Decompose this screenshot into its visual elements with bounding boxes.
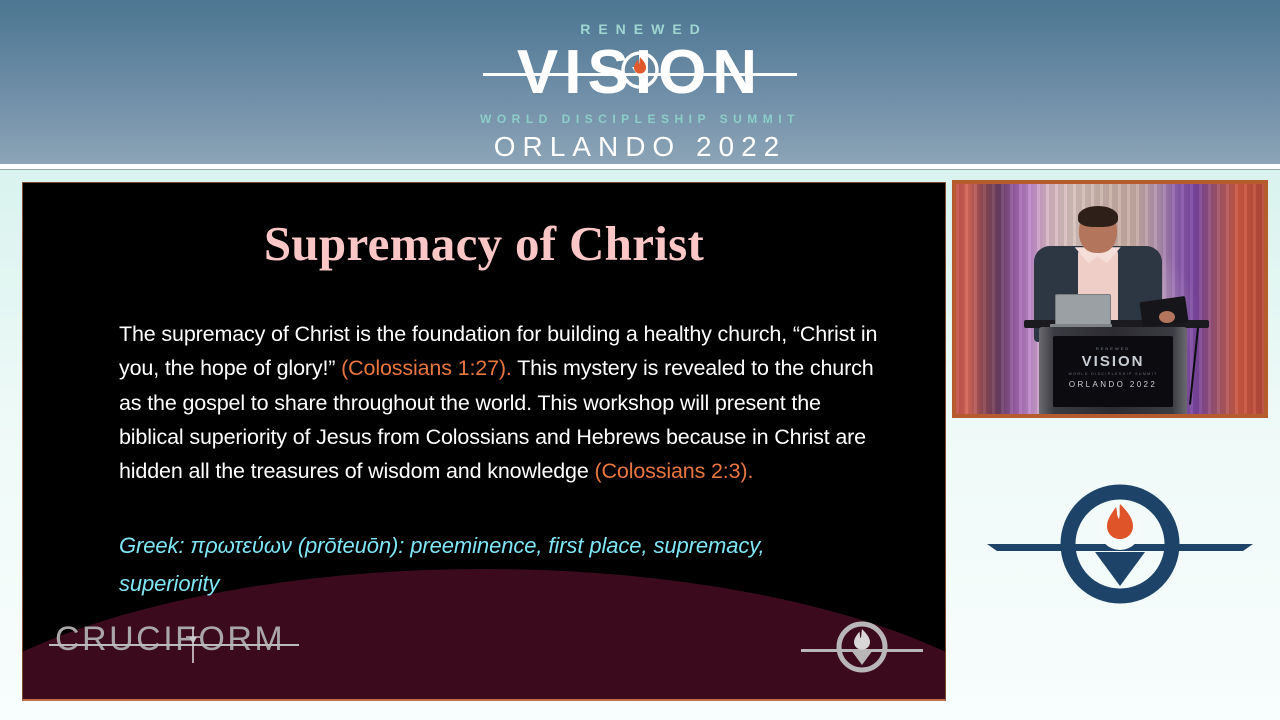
podium-event-sign: RENEWED VISION WORLD DISCIPLESHIP SUMMIT… (1053, 336, 1173, 407)
podium-summit-text: WORLD DISCIPLESHIP SUMMIT (1053, 372, 1173, 376)
scripture-reference-2: (Colossians 2:3). (595, 459, 754, 483)
logo-summit-text: WORLD DISCIPLESHIP SUMMIT (0, 113, 1280, 125)
event-header-banner: RENEWED VISION WORLD DISCIPLESHIP SUMMIT… (0, 0, 1280, 170)
slide-content: Supremacy of Christ The supremacy of Chr… (23, 183, 945, 699)
podium-vision-text: VISION (1053, 353, 1173, 370)
cruciform-brand-logo: CRUCIFORM (55, 617, 285, 663)
slide-body-paragraph: The supremacy of Christ is the foundatio… (119, 317, 881, 488)
slide-panel: Supremacy of Christ The supremacy of Chr… (22, 182, 946, 701)
footer-flame-emblem-icon (797, 619, 927, 679)
presentation-stage: RENEWED VISION WORLD DISCIPLESHIP SUMMIT… (0, 0, 1280, 720)
podium-renewed-text: RENEWED (1053, 347, 1173, 352)
logo-city-text: ORLANDO 2022 (0, 133, 1280, 161)
logo-vision-wrap: VISION (511, 42, 769, 104)
cruciform-brand-text: CRUCIFORM (55, 617, 285, 661)
logo-renewed-text: RENEWED (8, 22, 1280, 36)
speaker-hair (1078, 206, 1118, 227)
podium-city-text: ORLANDO 2022 (1053, 380, 1173, 389)
vision-emblem-logo (985, 478, 1255, 618)
speaker-hand (1159, 311, 1175, 323)
speaker-video-feed[interactable]: RENEWED VISION WORLD DISCIPLESHIP SUMMIT… (952, 180, 1268, 418)
cruciform-strike-line (49, 644, 299, 646)
podium-sign-text: RENEWED VISION WORLD DISCIPLESHIP SUMMIT… (1053, 347, 1173, 389)
scripture-reference-1: (Colossians 1:27). (341, 356, 512, 380)
cruciform-cross-icon (183, 625, 203, 665)
flame-emblem-icon (617, 49, 663, 95)
slide-title: Supremacy of Christ (23, 215, 945, 272)
header-divider-rule (0, 164, 1280, 169)
greek-word-definition: Greek: πρωτεύων (prōteuōn): preeminence,… (119, 527, 859, 603)
event-logo: RENEWED VISION WORLD DISCIPLESHIP SUMMIT… (0, 22, 1280, 161)
